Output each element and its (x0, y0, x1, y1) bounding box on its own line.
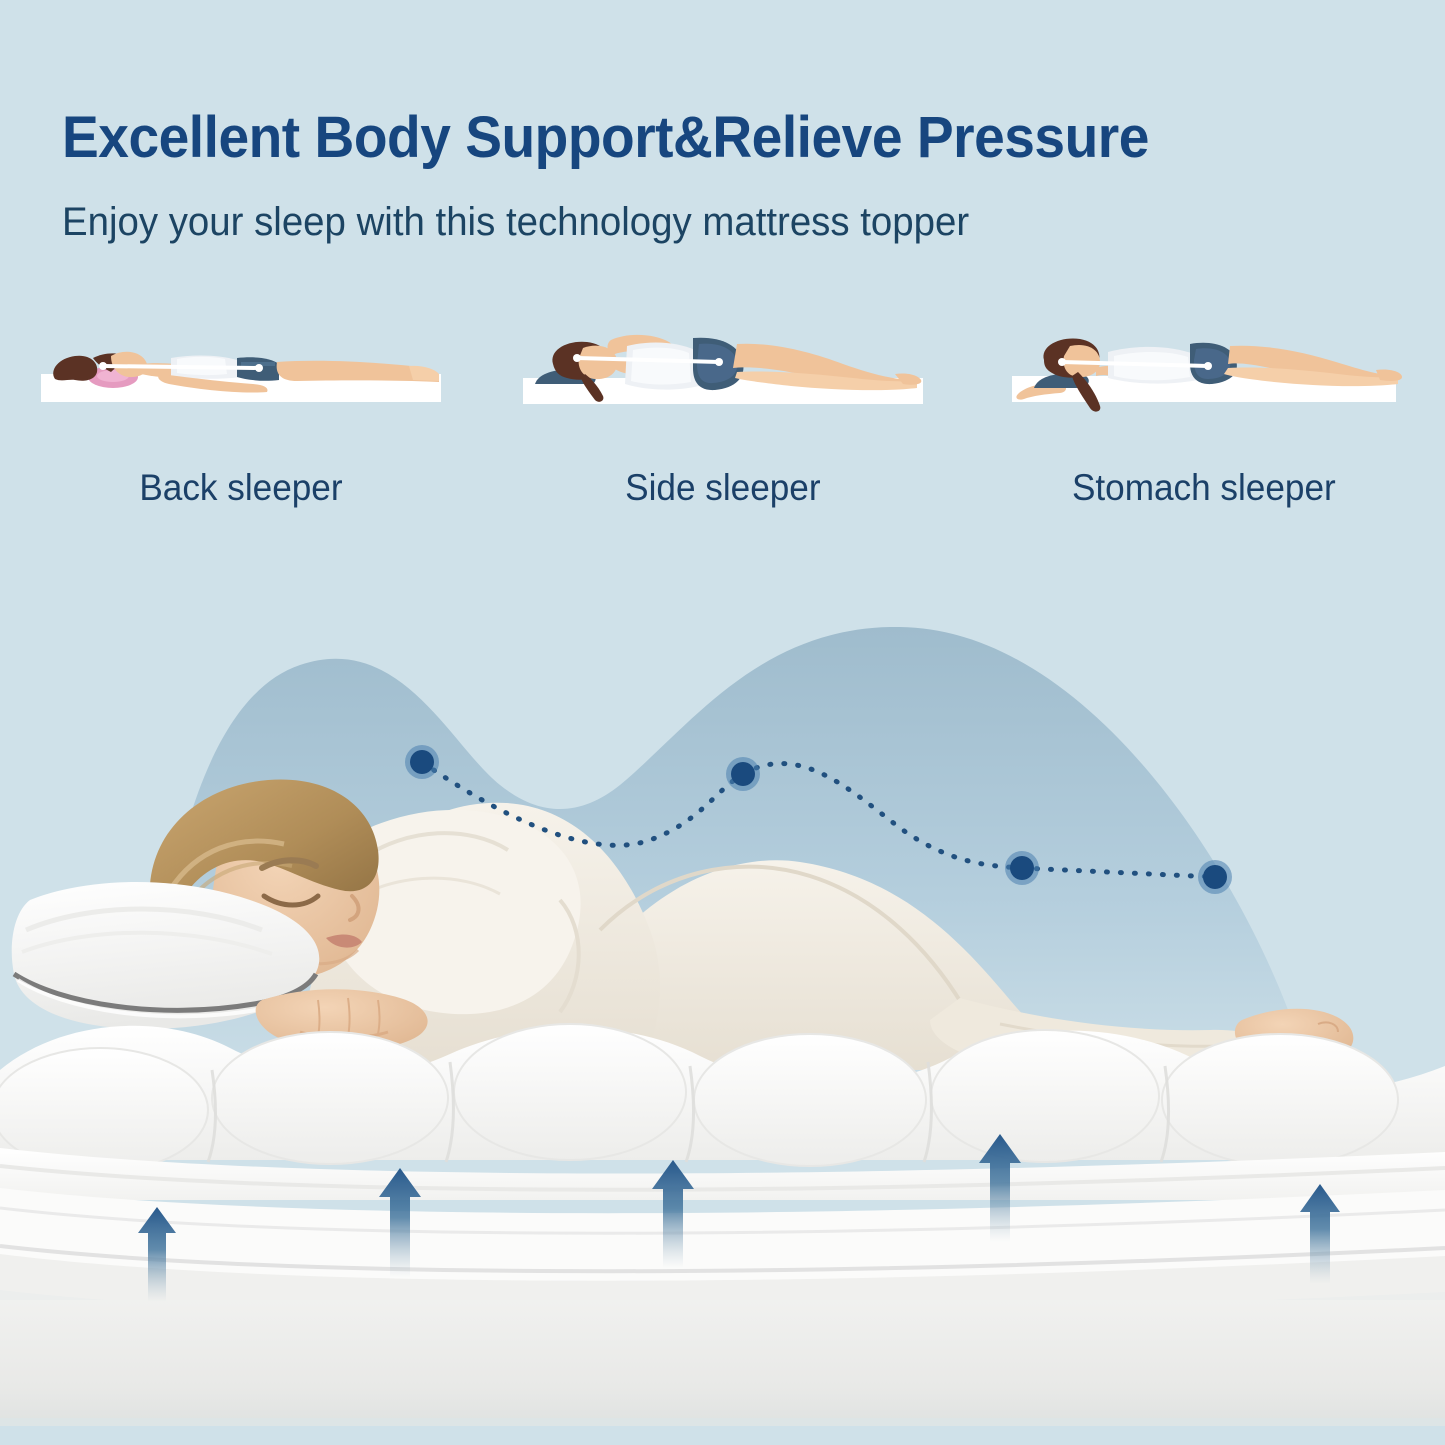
product-infographic: Excellent Body Support&Relieve Pressure … (0, 0, 1445, 1445)
sleeper-card-back: Back sleeper (0, 322, 482, 522)
sleeper-label-stomach: Stomach sleeper (1072, 467, 1336, 509)
sleeper-label-back: Back sleeper (139, 467, 342, 509)
side-sleeper-icon (523, 322, 923, 417)
page-subtitle: Enjoy your sleep with this technology ma… (62, 198, 969, 246)
sleeper-label-side: Side sleeper (625, 467, 820, 509)
back-sleeper-icon (41, 322, 441, 417)
page-title: Excellent Body Support&Relieve Pressure (62, 108, 1326, 169)
sleeper-card-stomach: Stomach sleeper (963, 322, 1445, 522)
sleeper-positions-row: Back sleeper (0, 322, 1445, 522)
product-scene (0, 600, 1445, 1445)
sleeper-card-side: Side sleeper (482, 322, 964, 522)
stomach-sleeper-icon (1004, 322, 1404, 417)
